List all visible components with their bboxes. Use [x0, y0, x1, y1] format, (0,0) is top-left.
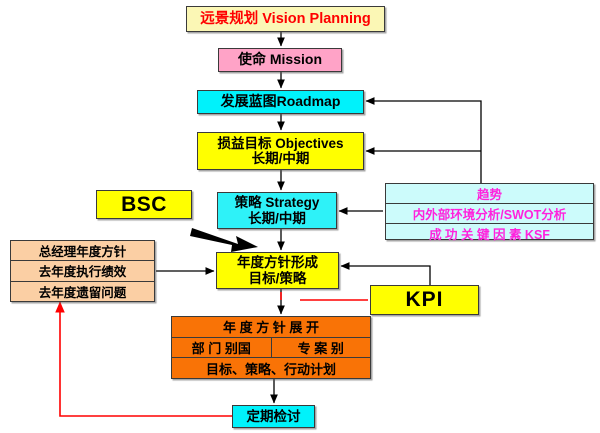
inputs-row-last-year-performance: 去年度执行绩效 [11, 260, 154, 280]
node-mission[interactable]: 使命 Mission [218, 48, 342, 72]
trend-row-swot: 内外部环境分析/SWOT分析 [386, 203, 593, 223]
node-objectives-line1: 损益目标 Objectives [217, 136, 343, 151]
node-strategy-line2: 长期/中期 [248, 211, 306, 226]
node-annual-policy[interactable]: 年度方针形成 目标/策略 [216, 252, 339, 289]
node-mission-label: 使命 Mission [238, 52, 322, 68]
node-bsc-label: BSC [121, 193, 167, 217]
deployment-row-goals-strategy-action: 目标、策略、行动计划 [172, 357, 370, 378]
node-vision-planning[interactable]: 远景规划 Vision Planning [186, 6, 385, 32]
deployment-col-project: 专 案 别 [272, 338, 371, 358]
group-trend-analysis[interactable]: 趋势 内外部环境分析/SWOT分析 成 功 关 键 因 素 KSF [385, 183, 594, 240]
node-vision-planning-label: 远景规划 Vision Planning [200, 11, 371, 27]
node-roadmap-label: 发展蓝图Roadmap [221, 94, 341, 110]
deployment-col-department: 部 门 别国 [172, 338, 272, 358]
node-objectives-line2: 长期/中期 [252, 151, 310, 166]
node-periodic-review[interactable]: 定期检讨 [232, 405, 315, 428]
deployment-title: 年 度 方 针 展 开 [172, 317, 370, 337]
node-periodic-review-label: 定期检讨 [247, 409, 301, 424]
inputs-row-last-year-issues: 去年度遗留问题 [11, 281, 154, 301]
node-kpi[interactable]: KPI [370, 285, 479, 315]
node-bsc[interactable]: BSC [96, 190, 192, 219]
trend-row-trend: 趋势 [386, 184, 593, 203]
edge-feedback-roadmap [366, 101, 481, 183]
node-annual-policy-line1: 年度方针形成 [237, 255, 318, 270]
edge-kpi-annual [341, 266, 430, 285]
inputs-row-gm-policy: 总经理年度方针 [11, 241, 154, 260]
node-strategy[interactable]: 策略 Strategy 长期/中期 [217, 192, 337, 229]
bsc-emphasis-arrow [190, 228, 258, 252]
node-kpi-label: KPI [405, 288, 443, 312]
group-policy-deployment[interactable]: 年 度 方 针 展 开 部 门 别国 专 案 别 目标、策略、行动计划 [171, 316, 371, 379]
trend-row-ksf: 成 功 关 键 因 素 KSF [386, 223, 593, 243]
node-strategy-line1: 策略 Strategy [235, 195, 320, 210]
node-roadmap[interactable]: 发展蓝图Roadmap [197, 90, 364, 114]
node-annual-policy-line2: 目标/策略 [249, 271, 307, 286]
group-annual-inputs[interactable]: 总经理年度方针 去年度执行绩效 去年度遗留问题 [10, 240, 155, 302]
node-objectives[interactable]: 损益目标 Objectives 长期/中期 [197, 132, 364, 170]
